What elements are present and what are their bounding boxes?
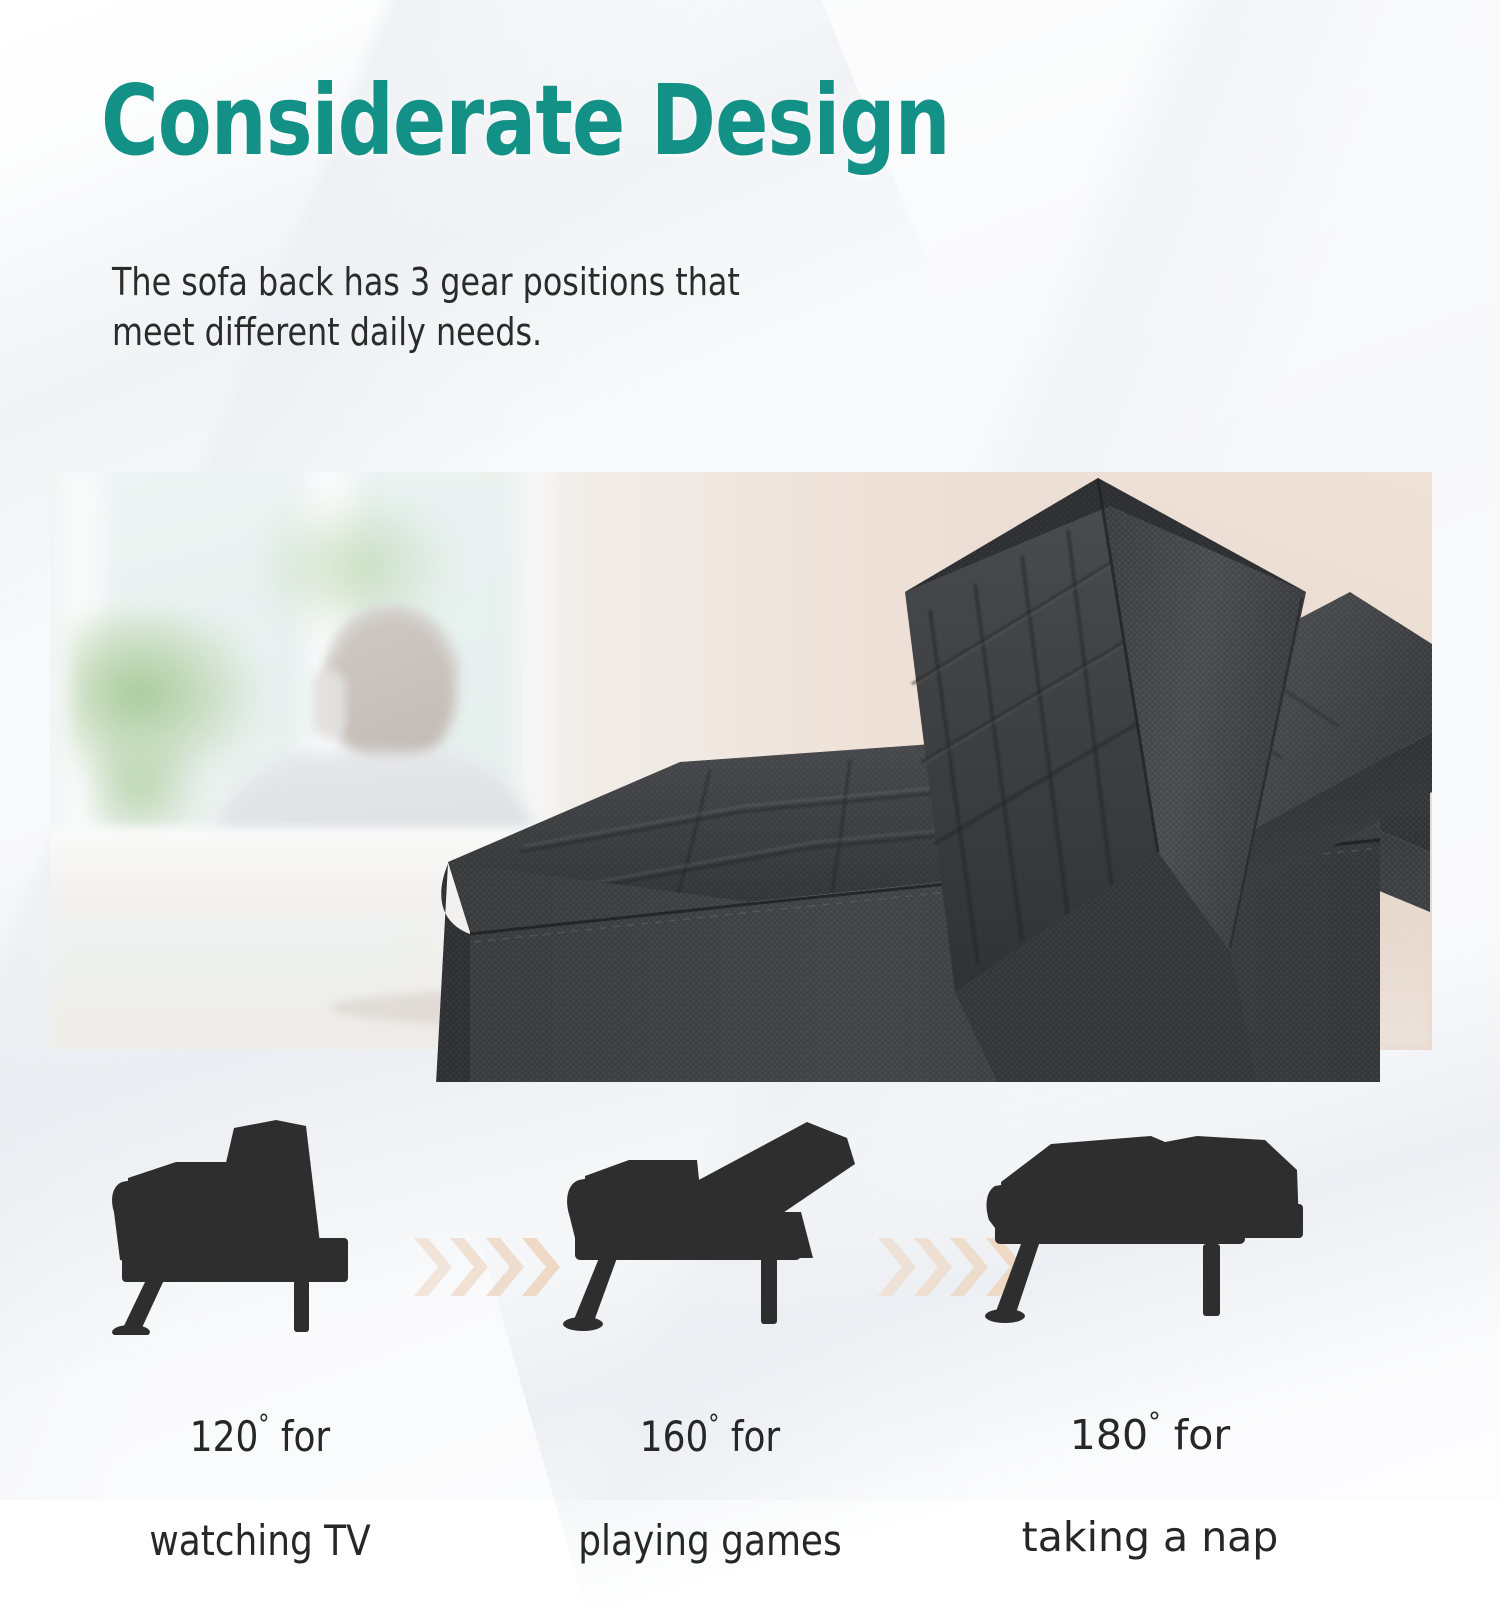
sofa-reclined-silhouette-icon <box>555 1120 865 1335</box>
stage-160-degrees: 160° for playing games <box>475 1120 945 1500</box>
stage-180-caption: 180° for taking a nap <box>915 1356 1385 1563</box>
stage-180-degrees: 180° for taking a nap <box>915 1120 1385 1500</box>
stage-120-caption: 120° for watching TV <box>37 1356 484 1567</box>
product-photo <box>50 472 1432 1050</box>
sofa-upright-silhouette-icon <box>110 1120 410 1335</box>
stage-160-caption: 160° for playing games <box>487 1356 934 1567</box>
futon-sofa-illustration <box>50 292 1432 1082</box>
gear-position-stages: 120° for watching TV 160 <box>0 1120 1500 1500</box>
stage-120-degrees: 120° for watching TV <box>25 1120 495 1500</box>
sofa-flat-bed-silhouette-icon <box>985 1120 1315 1335</box>
page-title: Considerate Design <box>101 72 950 169</box>
